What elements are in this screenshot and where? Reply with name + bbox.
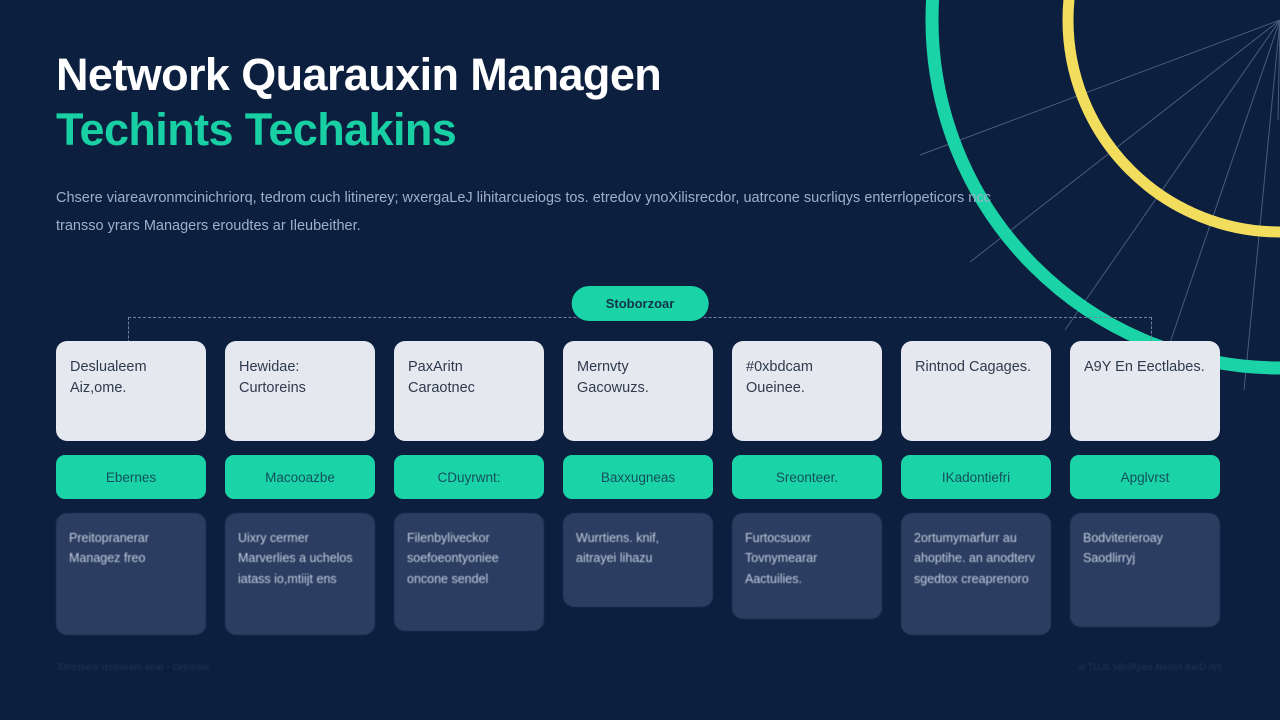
column-pill-button[interactable]: Apglvrst — [1070, 455, 1220, 499]
column-heading-card[interactable]: A9Y En Eectlabes. — [1070, 341, 1220, 441]
column-pill-button[interactable]: Macooazbe — [225, 455, 375, 499]
column-heading-card[interactable]: Mernvty Gacowuzs. — [563, 341, 713, 441]
column-pill-button[interactable]: Baxxugneas — [563, 455, 713, 499]
header: Network Quarauxin Managen Techints Techa… — [56, 48, 1036, 241]
column-5: #0xbdcam Oueinee. Sreonteer. Furtocsuoxr… — [732, 341, 882, 635]
column-2: Hewidae: Curtoreins Macooazbe Uixry cerm… — [225, 341, 375, 635]
column-body-card: Furtocsuoxr Tovnymearar Aactuilies. — [732, 513, 882, 619]
footer-left-text: Efrictoeix izrdouam ooal - Ortiorsw — [58, 662, 210, 672]
column-body-card: Wurrtiens. knif, aitrayei lihazu — [563, 513, 713, 607]
column-pill-button[interactable]: Sreonteer. — [732, 455, 882, 499]
column-heading-card[interactable]: Rintnod Cagages. — [901, 341, 1051, 441]
column-body-card: Preitopranerar Managez freo — [56, 513, 206, 635]
footer-right-text: w TcLtL'sBoRpes Notnrt AeiD ifjfj — [1078, 662, 1222, 672]
column-heading-card[interactable]: #0xbdcam Oueinee. — [732, 341, 882, 441]
column-6: Rintnod Cagages. IKadontiefri 2ortumymar… — [901, 341, 1051, 635]
column-1: Deslualeem Aiz,ome. Ebernes Preitopraner… — [56, 341, 206, 635]
column-3: PaxAritn Caraotnec CDuyrwnt: Filenbylive… — [394, 341, 544, 635]
column-body-card: Filenbyliveckor soefoeontyoniee oncone s… — [394, 513, 544, 631]
column-pill-button[interactable]: IKadontiefri — [901, 455, 1051, 499]
column-body-card: Bodviterieroay Saodlirryj — [1070, 513, 1220, 627]
column-heading-card[interactable]: PaxAritn Caraotnec — [394, 341, 544, 441]
page-title-line-1: Network Quarauxin Managen — [56, 48, 1036, 101]
flow-badge[interactable]: Stoborzoar — [572, 286, 709, 321]
column-pill-button[interactable]: CDuyrwnt: — [394, 455, 544, 499]
page-title-line-2: Techints Techakins — [56, 103, 1036, 156]
page-subtitle: Chsere viareavronmcinichriorq, tedrom cu… — [56, 184, 1021, 241]
column-7: A9Y En Eectlabes. Apglvrst Bodviterieroa… — [1070, 341, 1220, 635]
column-body-card: 2ortumymarfurr au ahoptihe. an anodterv … — [901, 513, 1051, 635]
yellow-arc — [1068, 0, 1280, 232]
column-heading-card[interactable]: Hewidae: Curtoreins — [225, 341, 375, 441]
columns-grid: Deslualeem Aiz,ome. Ebernes Preitopraner… — [56, 341, 1224, 635]
column-body-card: Uixry cermer Marverlies a uchelos iatass… — [225, 513, 375, 635]
flow-connector-region: Stoborzoar — [0, 286, 1280, 346]
column-pill-button[interactable]: Ebernes — [56, 455, 206, 499]
column-heading-card[interactable]: Deslualeem Aiz,ome. — [56, 341, 206, 441]
column-4: Mernvty Gacowuzs. Baxxugneas Wurrtiens. … — [563, 341, 713, 635]
